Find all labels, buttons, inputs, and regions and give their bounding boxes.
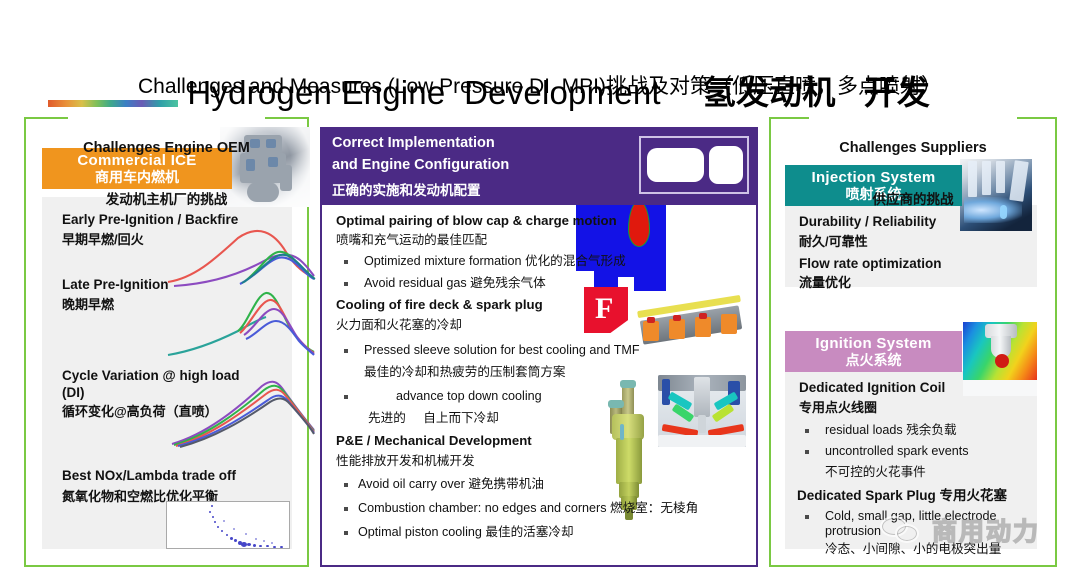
bullet-icon (344, 282, 348, 286)
injection-line-1-cn: 流量优化 (799, 275, 851, 292)
bullet-icon (344, 349, 348, 353)
center-panel: Correct Implementation and Engine Config… (320, 127, 758, 567)
page-subtitle: Challenges and Measures (Low Pressure DI… (0, 70, 1080, 100)
center-block-1-heading-en: Cooling of fire deck & spark plug (336, 297, 543, 314)
bullet-icon (344, 260, 348, 264)
center-block-1-heading-cn: 火力面和火花塞的冷却 (336, 318, 462, 334)
center-block-2-bullet-2: Optimal piston cooling 最佳的活塞冷却 (358, 525, 574, 541)
center-block-1-bullet-3: 先进的 自上而下冷却 (368, 411, 499, 427)
ignition-g1-heading-en: Dedicated Spark Plug 专用火花塞 (797, 487, 1007, 505)
chart-cycle-variation (166, 374, 316, 449)
left-panel-heading-cn: 发动机主机厂的挑战 (24, 192, 309, 207)
chart-nox-lambda-scatter (166, 501, 290, 549)
engine-outline-icon (639, 136, 749, 194)
flash-f-logo: F (584, 287, 628, 333)
wechat-icon (880, 514, 926, 546)
center-header-line2: and Engine Configuration (332, 157, 509, 173)
center-block-1-bullet-0: Pressed sleeve solution for best cooling… (364, 343, 640, 359)
center-block-2-bullet-1: Combustion chamber: no edges and corners… (358, 501, 698, 517)
left-item-1-en: Late Pre-Ignition (62, 276, 169, 294)
center-block-2-heading-cn: 性能排放开发和机械开发 (336, 454, 475, 470)
center-block-1-bullet-2: advance top down cooling (396, 389, 542, 405)
injector-rail-photo (633, 291, 749, 353)
bullet-icon (805, 429, 809, 433)
ignition-system-en: Ignition System (815, 335, 931, 352)
chart-late-preignition (166, 287, 316, 359)
right-panel: Challenges Suppliers 供应商的挑战 Injection Sy… (769, 117, 1057, 567)
center-body: F (320, 203, 758, 567)
left-panel-heading: Challenges Engine OEM 发动机主机厂的挑战 (24, 104, 309, 243)
left-item-3-en: Best NOx/Lambda trade off (62, 467, 236, 485)
left-panel: Challenges Engine OEM 发动机主机厂的挑战 Commerci… (24, 117, 309, 567)
bullet-icon (805, 515, 809, 519)
bullet-icon (344, 395, 348, 399)
ignition-system-cn: 点火系统 (846, 352, 902, 368)
right-panel-heading-en: Challenges Suppliers (769, 140, 1057, 156)
center-block-0-heading-cn: 喷嘴和充气运动的最佳匹配 (336, 233, 487, 249)
center-header-line1: Correct Implementation (332, 135, 495, 151)
watermark: 商用动力 (880, 512, 1040, 548)
left-item-1-cn: 晚期早燃 (62, 297, 114, 314)
ignition-g0-heading-cn: 专用点火线圈 (799, 400, 877, 417)
watermark-text: 商用动力 (932, 512, 1040, 548)
left-item-2-en2: (DI) (62, 384, 85, 402)
center-block-2-heading-en: P&E / Mechanical Development (336, 433, 532, 450)
ignition-system-banner: Ignition System 点火系统 (785, 331, 962, 372)
chamber-cfd-photo (658, 375, 746, 447)
bullet-icon (344, 531, 348, 535)
slide-root: Hydrogen Engine Development氢发动机 开发 Chall… (0, 0, 1080, 574)
ignition-g0-heading-en: Dedicated Ignition Coil (799, 379, 945, 397)
center-block-2-bullet-0: Avoid oil carry over 避免携带机油 (358, 477, 544, 493)
ignition-g0-bullet-0: residual loads 残余负载 (825, 422, 957, 438)
ignition-cfd-photo (963, 322, 1037, 396)
bullet-icon (805, 450, 809, 454)
center-header-line3: 正确的实施和发动机配置 (332, 179, 481, 199)
left-panel-heading-en: Challenges Engine OEM (24, 140, 309, 156)
center-block-0-heading-en: Optimal pairing of blow cap & charge mot… (336, 213, 617, 230)
center-block-0-bullet-0: Optimized mixture formation 优化的混合气形成 (364, 254, 626, 270)
ignition-g0-bullet-2: 不可控的火花事件 (825, 464, 926, 480)
injection-line-1-en: Flow rate optimization (799, 255, 942, 273)
ignition-g1-bullet-1: protrusion (825, 523, 881, 539)
ignition-g0-bullet-1: uncontrolled spark events (825, 443, 969, 459)
right-panel-heading: Challenges Suppliers 供应商的挑战 (769, 104, 1057, 243)
center-block-0-bullet-1: Avoid residual gas 避免残余气体 (364, 276, 546, 292)
bullet-icon (344, 507, 348, 511)
right-panel-heading-cn: 供应商的挑战 (769, 192, 1057, 207)
center-header: Correct Implementation and Engine Config… (320, 127, 758, 203)
bullet-icon (344, 483, 348, 487)
center-block-1-bullet-1: 最佳的冷却和热疲劳的压制套筒方案 (364, 365, 566, 381)
